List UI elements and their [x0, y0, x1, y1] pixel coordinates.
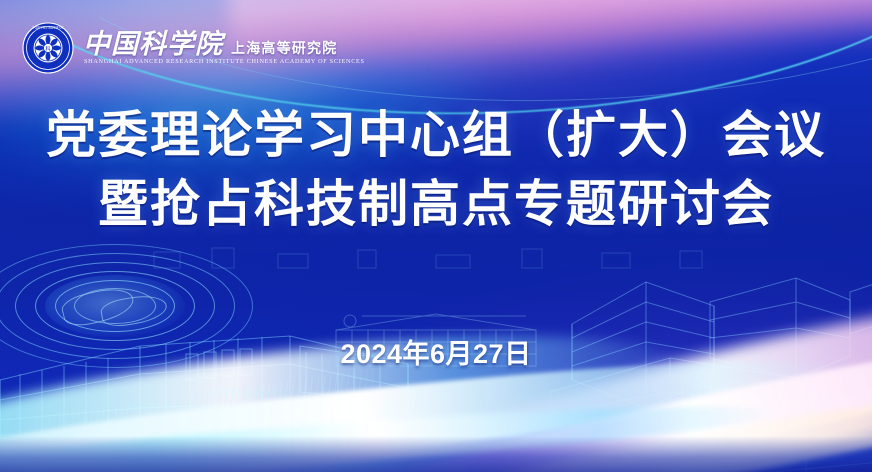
org-name-en: SHANGHAI ADVANCED RESEARCH INSTITUTE CHI… [84, 59, 365, 65]
svg-text:中国科学院上海高等研究院: 中国科学院上海高等研究院 [32, 25, 64, 29]
banner-title: 党委理论学习中心组（扩大）会议 暨抢占科技制高点专题研讨会 [0, 104, 872, 236]
cas-emblem-icon: 科 中国科学院上海高等研究院 [22, 22, 74, 74]
org-name-cn-sub: 上海高等研究院 [231, 41, 337, 55]
svg-text:科: 科 [45, 46, 50, 53]
conference-banner: 科 中国科学院上海高等研究院 中国科学院 上海高等研究院 SHANGHAI AD… [0, 0, 872, 472]
title-line-2: 暨抢占科技制高点专题研讨会 [0, 173, 872, 236]
title-line-1: 党委理论学习中心组（扩大）会议 [0, 104, 872, 167]
banner-date: 2024年6月27日 [0, 332, 872, 371]
org-name-cn-main: 中国科学院 [83, 31, 223, 58]
organization-logo: 科 中国科学院上海高等研究院 中国科学院 上海高等研究院 SHANGHAI AD… [22, 22, 364, 74]
